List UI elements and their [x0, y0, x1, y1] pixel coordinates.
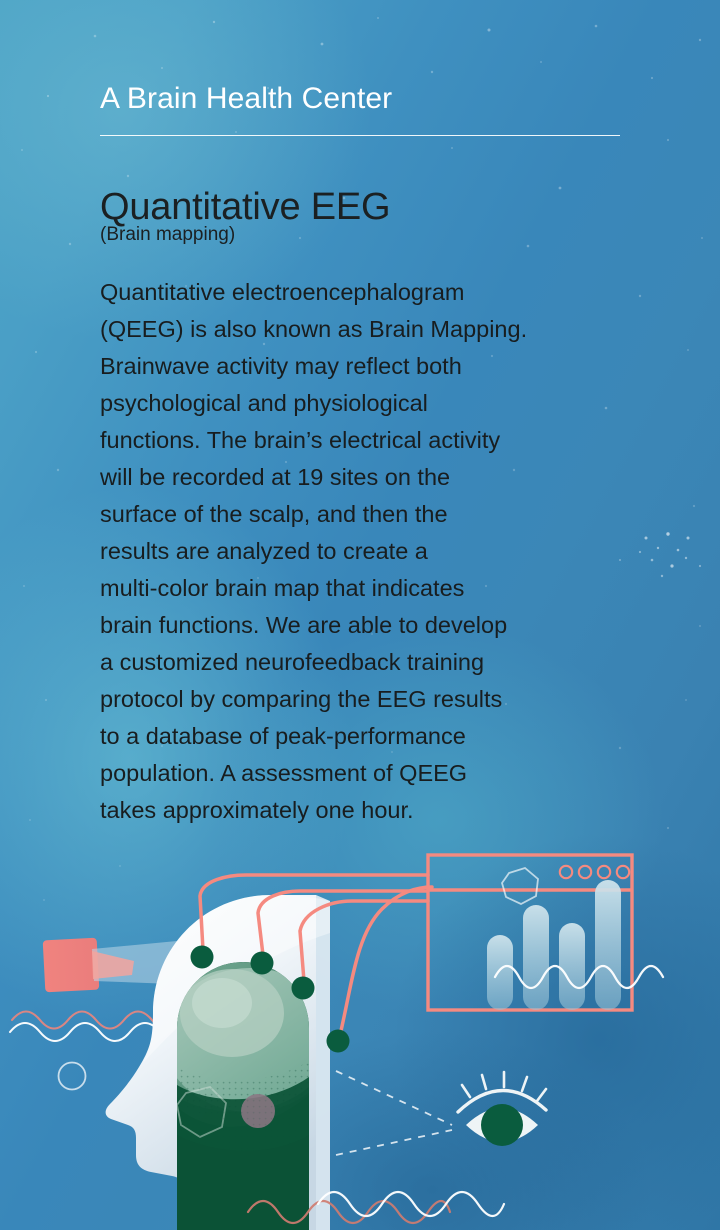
- electrode-icon[interactable]: [251, 952, 274, 975]
- window-dot-icon[interactable]: [598, 866, 610, 878]
- body-line: multi-color brain map that indicates: [100, 575, 464, 601]
- page-subtitle: (Brain mapping): [100, 224, 235, 246]
- page-title: Quantitative EEG: [100, 186, 390, 229]
- body-line: functions. The brain’s electrical activi…: [100, 427, 500, 453]
- eye-iris: [481, 1104, 523, 1146]
- sightline-icon: [336, 1130, 452, 1155]
- body-line: protocol by comparing the EEG results: [100, 686, 502, 712]
- electrode-icon[interactable]: [327, 1030, 350, 1053]
- body-line: results are analyzed to create a: [100, 538, 428, 564]
- body-line: psychological and physiological: [100, 390, 428, 416]
- window-dot-icon[interactable]: [617, 866, 629, 878]
- sightline-group: [336, 1071, 452, 1155]
- electrode-icon[interactable]: [191, 946, 214, 969]
- body-line: will be recorded at 19 sites on the: [100, 464, 450, 490]
- bar-chart-icon: [487, 880, 621, 1010]
- head-back-edge: [316, 895, 330, 1230]
- megaphone-body: [43, 938, 100, 993]
- eye-icon[interactable]: [458, 1072, 546, 1146]
- body-line: Quantitative electroencephalogram: [100, 279, 464, 305]
- body-line: surface of the scalp, and then the: [100, 501, 448, 527]
- page-root: A Brain Health Center Quantitative EEG (…: [0, 0, 720, 1230]
- window-dots-group: [560, 866, 629, 878]
- window-dot-icon[interactable]: [579, 866, 591, 878]
- ring-icon: [59, 1063, 86, 1090]
- electrode-wire-icon: [340, 887, 432, 1035]
- header-divider: [100, 135, 620, 136]
- body-line: takes approximately one hour.: [100, 797, 414, 823]
- sightline-icon: [336, 1071, 452, 1125]
- page-brand-title: A Brain Health Center: [100, 82, 640, 116]
- eeg-illustration: [0, 835, 720, 1230]
- body-line: to a database of peak-performance: [100, 723, 466, 749]
- bar: [559, 923, 585, 1010]
- bar: [487, 935, 513, 1010]
- body-line: Brainwave activity may reflect both: [100, 353, 462, 379]
- eyelash-group: [462, 1072, 546, 1101]
- electrode-icon[interactable]: [292, 977, 315, 1000]
- body-line: population. A assessment of QEEG: [100, 760, 467, 786]
- body-line: (QEEG) is also known as Brain Mapping.: [100, 316, 527, 342]
- bar: [595, 880, 621, 1010]
- body-line: brain functions. We are able to develop: [100, 612, 507, 638]
- heptagon-icon: [502, 868, 538, 904]
- body-line: a customized neurofeedback training: [100, 649, 484, 675]
- bar: [523, 905, 549, 1010]
- window-dot-icon[interactable]: [560, 866, 572, 878]
- body-paragraph: Quantitative electroencephalogram (QEEG)…: [100, 274, 630, 829]
